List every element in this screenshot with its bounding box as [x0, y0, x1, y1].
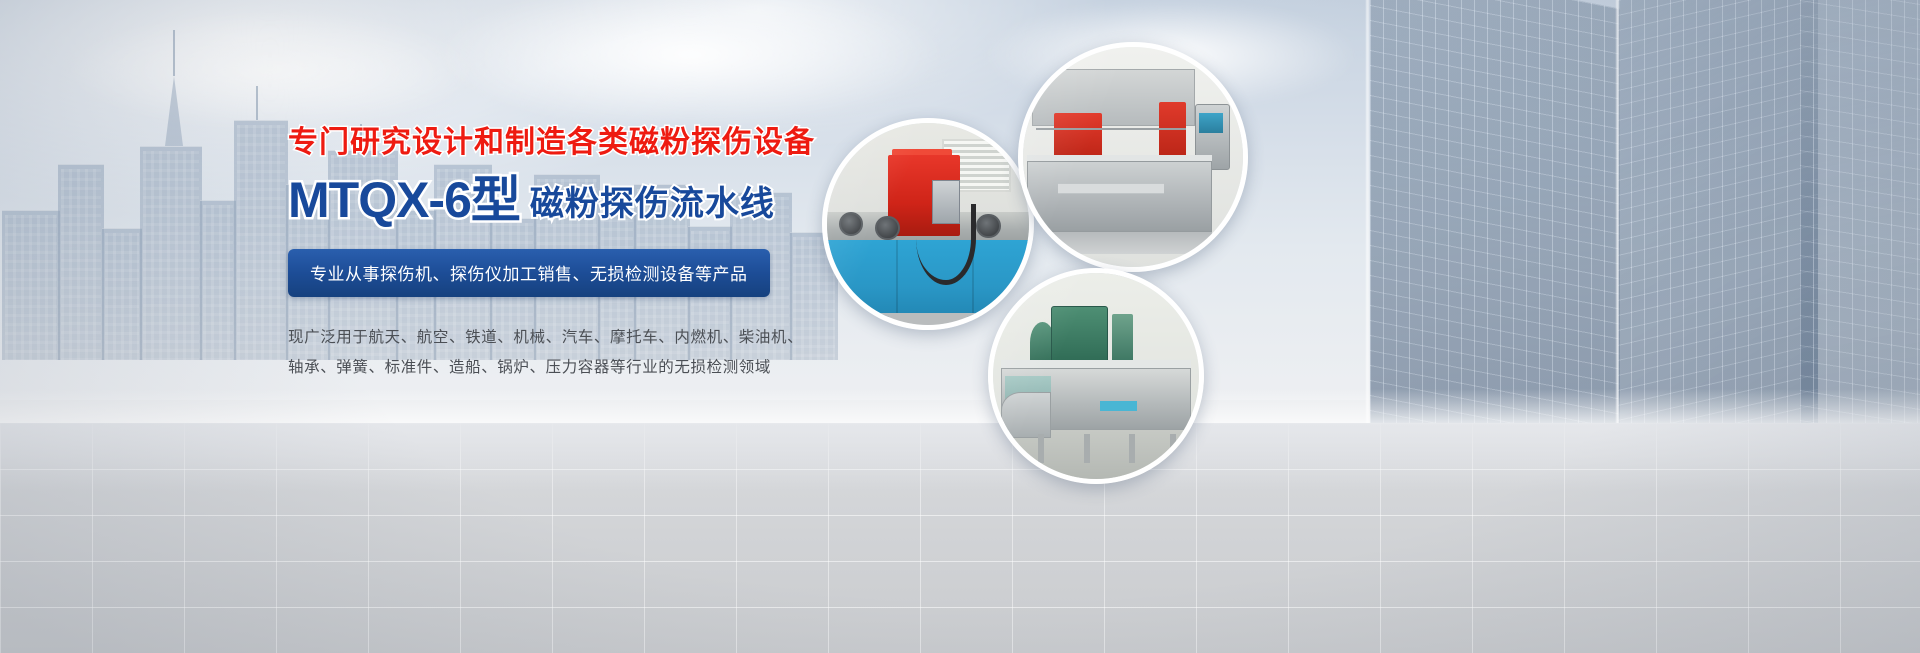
- horizon-glow: [0, 389, 1920, 423]
- product-photo-inspection-cabinet[interactable]: [1018, 42, 1248, 272]
- promo-banner: 专门研究设计和制造各类磁粉探伤设备 MTQX-6型 磁粉探伤流水线 专业从事探伤…: [0, 0, 1920, 653]
- product-photo-production-line[interactable]: [988, 268, 1204, 484]
- services-pill[interactable]: 专业从事探伤机、探伤仪加工销售、无损检测设备等产品: [288, 249, 770, 297]
- product-model: MTQX-6型: [288, 175, 520, 225]
- description-line-2: 轴承、弹簧、标准件、造船、锅炉、压力容器等行业的无损检测领域: [288, 353, 928, 383]
- tiled-plaza-floor: [0, 423, 1920, 653]
- product-name: 磁粉探伤流水线: [530, 183, 775, 226]
- description-line-1: 现广泛用于航天、航空、铁道、机械、汽车、摩托车、内燃机、柴油机、: [288, 323, 928, 353]
- description-text: 现广泛用于航天、航空、铁道、机械、汽车、摩托车、内燃机、柴油机、 轴承、弹簧、标…: [288, 323, 928, 383]
